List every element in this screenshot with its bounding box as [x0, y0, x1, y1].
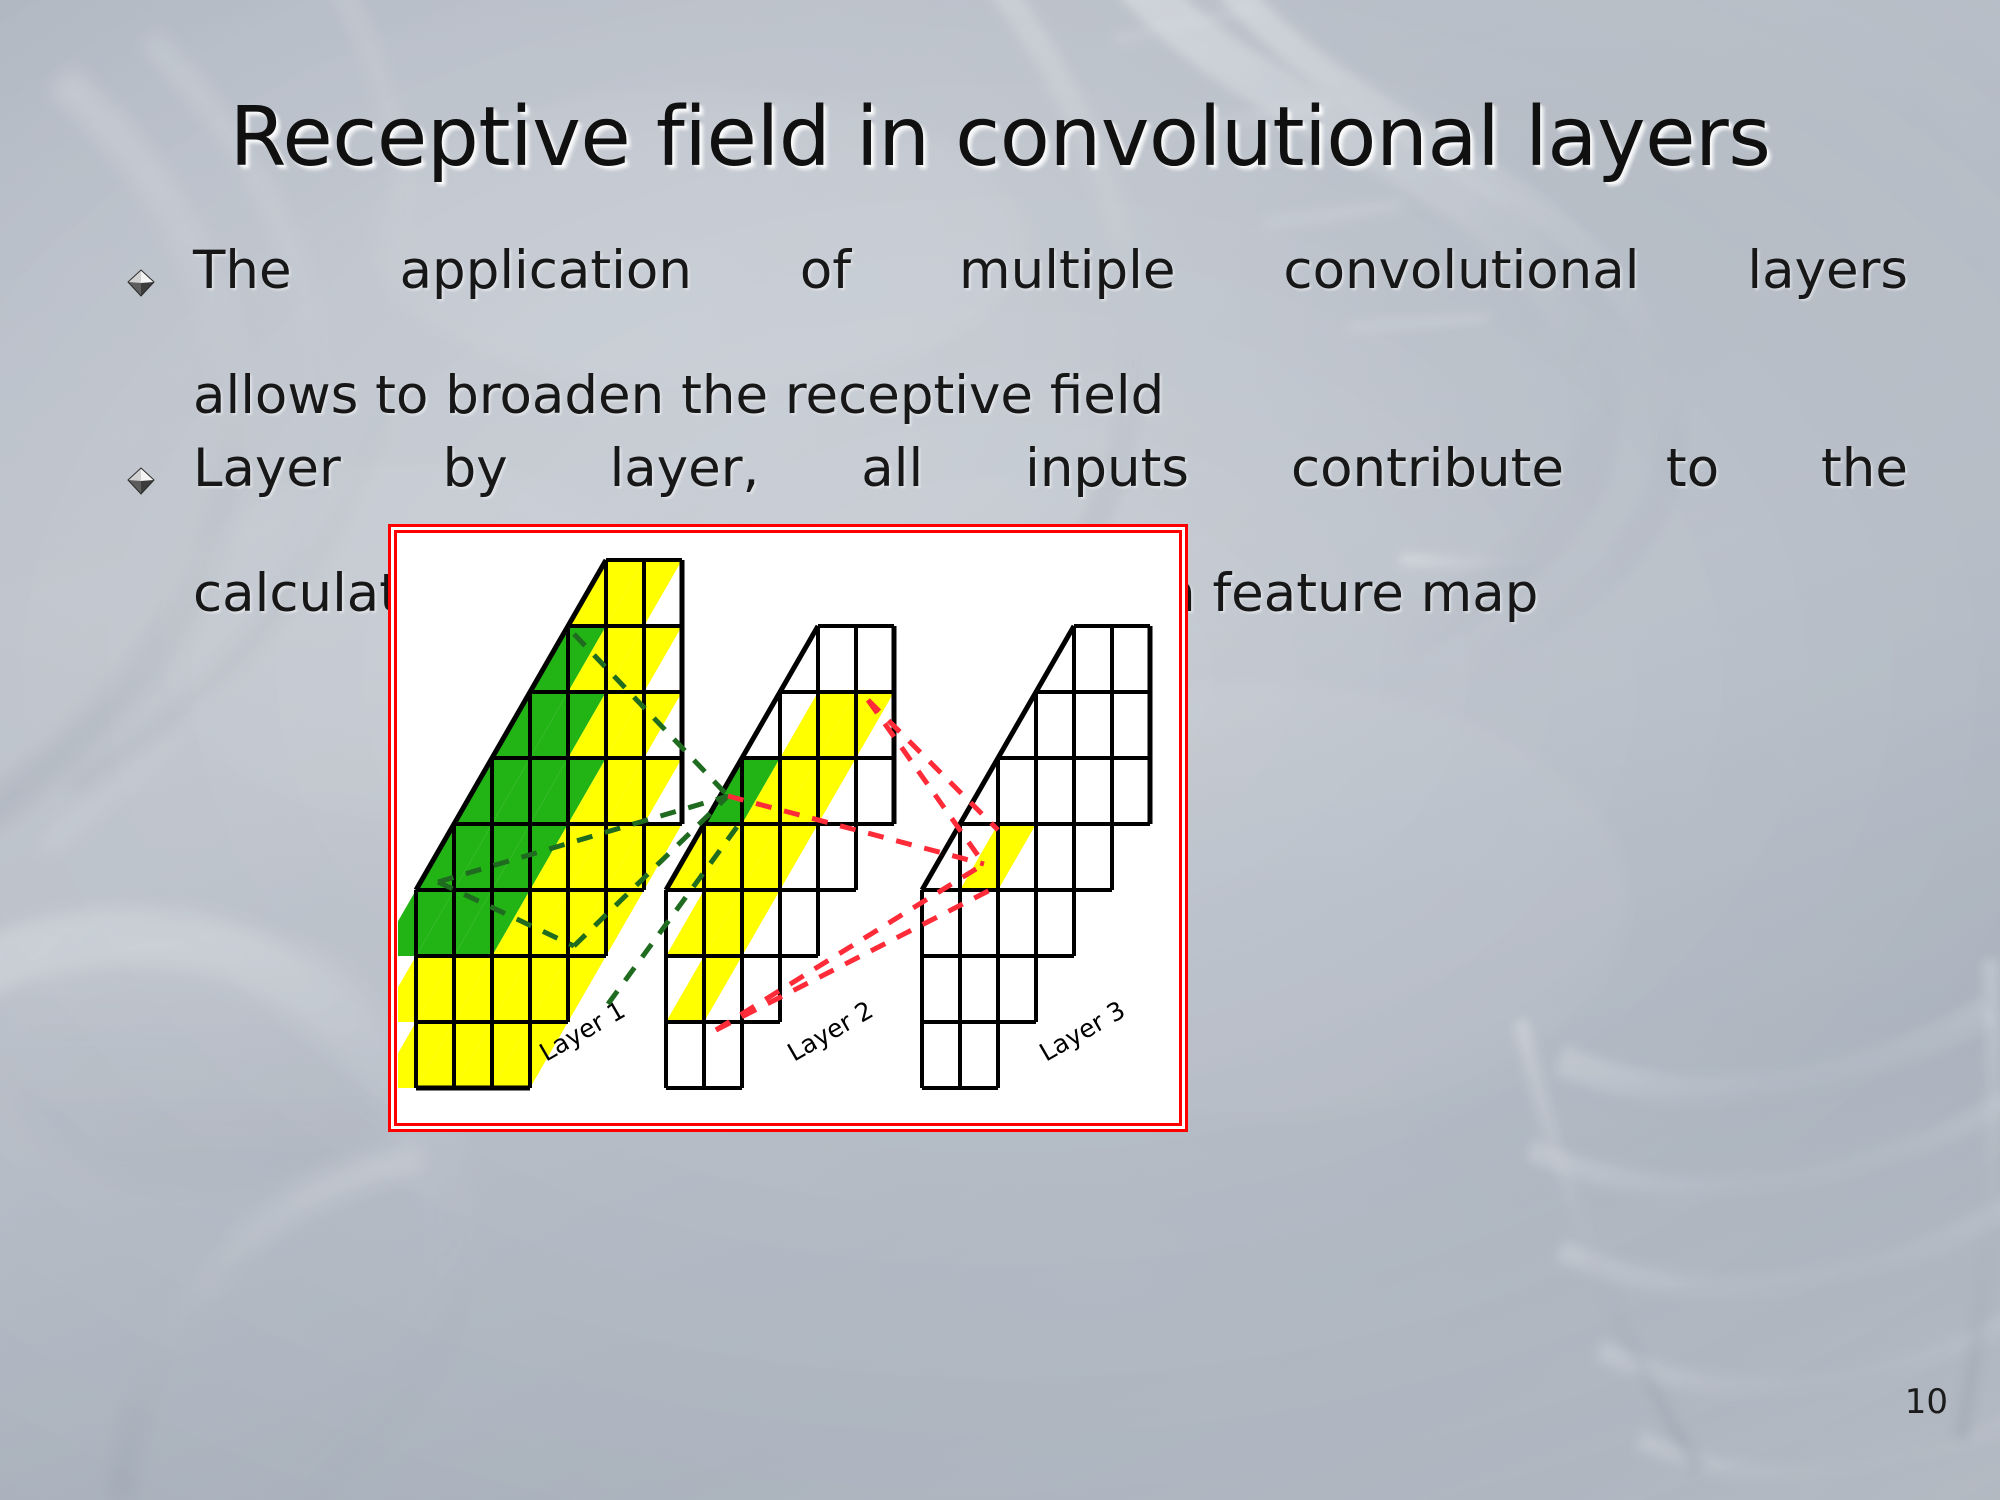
list-item: The application of multiple convolutiona…: [118, 240, 1908, 428]
diamond-bullet-icon: [124, 266, 158, 300]
diagram-svg: Layer 1: [398, 534, 1178, 1122]
layer3-label: Layer 3: [1035, 995, 1131, 1067]
bullet-line: The application of multiple convolutiona…: [193, 240, 1908, 365]
layer2-label-group: Layer 2: [783, 995, 879, 1067]
diagram-canvas: Layer 1: [398, 534, 1178, 1122]
receptive-field-diagram: Layer 1: [388, 524, 1188, 1132]
bullet-text: The application of multiple convolutiona…: [193, 240, 1908, 428]
bullet-line: allows to broaden the receptive field: [193, 365, 1908, 428]
page-number: 10: [1905, 1382, 1948, 1422]
layer2-label: Layer 2: [783, 995, 879, 1067]
slide-title: Receptive field in convolutional layers: [0, 96, 2000, 180]
diamond-bullet-icon: [124, 464, 158, 498]
layer3-label-group: Layer 3: [1035, 995, 1131, 1067]
